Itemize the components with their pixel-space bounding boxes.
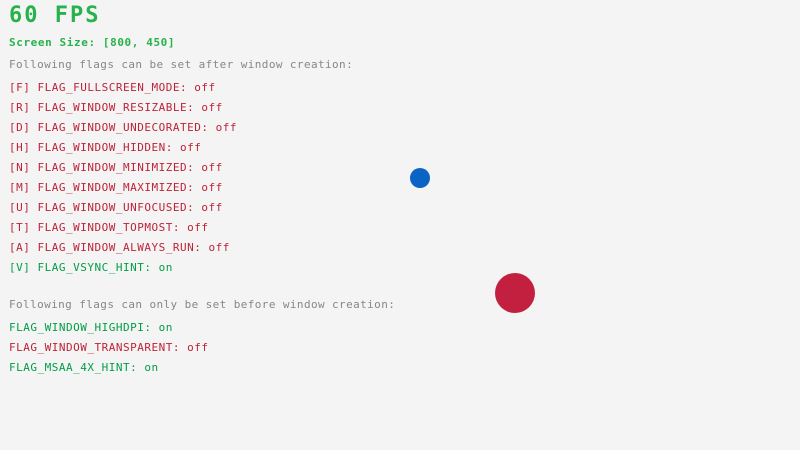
flag-state-value: off [180,141,201,154]
flag-shortcut-key: [D] [9,121,38,134]
flag-name: FLAG_WINDOW_MAXIMIZED [38,181,188,194]
flag-row-flag_window_always_run[interactable]: [A] FLAG_WINDOW_ALWAYS_RUN: off [9,238,237,258]
flag-state-value: on [159,321,173,334]
flag-row-flag_window_minimized[interactable]: [N] FLAG_WINDOW_MINIMIZED: off [9,158,237,178]
flag-shortcut-key: [H] [9,141,38,154]
section-heading-after-creation: Following flags can be set after window … [9,58,353,72]
section-heading-before-creation: Following flags can only be set before w… [9,298,395,312]
flag-shortcut-key: [N] [9,161,38,174]
flag-separator: : [166,141,180,154]
flag-row-flag_window_resizable[interactable]: [R] FLAG_WINDOW_RESIZABLE: off [9,98,237,118]
flag-row-flag_window_maximized[interactable]: [M] FLAG_WINDOW_MAXIMIZED: off [9,178,237,198]
flag-separator: : [194,241,208,254]
flag-name: FLAG_FULLSCREEN_MODE [38,81,180,94]
flag-separator: : [187,161,201,174]
flag-name: FLAG_WINDOW_HIGHDPI [9,321,144,334]
flag-name: FLAG_VSYNC_HINT [38,261,145,274]
flag-state-value: on [159,261,173,274]
flag-state-value: off [187,341,208,354]
flag-name: FLAG_WINDOW_RESIZABLE [38,101,188,114]
flag-state-value: off [187,221,208,234]
flag-name: FLAG_WINDOW_MINIMIZED [38,161,188,174]
flag-name: FLAG_MSAA_4X_HINT [9,361,130,374]
flag-state-value: off [201,101,222,114]
flag-shortcut-key: [U] [9,201,38,214]
flag-separator: : [144,321,158,334]
flag-row-flag_window_hidden[interactable]: [H] FLAG_WINDOW_HIDDEN: off [9,138,237,158]
screen-size-label: Screen Size: [800, 450] [9,36,175,50]
flag-list-before-creation: FLAG_WINDOW_HIGHDPI: onFLAG_WINDOW_TRANS… [9,318,208,378]
flag-shortcut-key: [M] [9,181,38,194]
flag-separator: : [201,121,215,134]
flag-separator: : [187,181,201,194]
flag-state-value: off [194,81,215,94]
flag-separator: : [173,221,187,234]
flag-state-value: off [201,161,222,174]
flag-separator: : [187,201,201,214]
red-ball [495,273,535,313]
flag-row-flag_window_transparent[interactable]: FLAG_WINDOW_TRANSPARENT: off [9,338,208,358]
flag-state-value: off [201,181,222,194]
flag-row-flag_window_topmost[interactable]: [T] FLAG_WINDOW_TOPMOST: off [9,218,237,238]
flag-state-value: off [201,201,222,214]
flag-separator: : [187,101,201,114]
flag-state-value: on [144,361,158,374]
flag-row-flag_window_highdpi[interactable]: FLAG_WINDOW_HIGHDPI: on [9,318,208,338]
flag-row-flag_window_unfocused[interactable]: [U] FLAG_WINDOW_UNFOCUSED: off [9,198,237,218]
flag-row-flag_window_undecorated[interactable]: [D] FLAG_WINDOW_UNDECORATED: off [9,118,237,138]
flag-list-after-creation: [F] FLAG_FULLSCREEN_MODE: off[R] FLAG_WI… [9,78,237,278]
flag-name: FLAG_WINDOW_HIDDEN [38,141,166,154]
flag-row-flag_msaa_4x_hint[interactable]: FLAG_MSAA_4X_HINT: on [9,358,208,378]
flag-shortcut-key: [A] [9,241,38,254]
flag-name: FLAG_WINDOW_ALWAYS_RUN [38,241,195,254]
flag-name: FLAG_WINDOW_TOPMOST [38,221,173,234]
flag-shortcut-key: [V] [9,261,38,274]
flag-shortcut-key: [T] [9,221,38,234]
flag-name: FLAG_WINDOW_UNDECORATED [38,121,202,134]
flag-name: FLAG_WINDOW_TRANSPARENT [9,341,173,354]
flag-name: FLAG_WINDOW_UNFOCUSED [38,201,188,214]
flag-separator: : [130,361,144,374]
flag-separator: : [180,81,194,94]
flag-state-value: off [216,121,237,134]
flag-state-value: off [208,241,229,254]
raylib-window-canvas: 60 FPS Screen Size: [800, 450] Following… [0,0,800,450]
flag-separator: : [144,261,158,274]
flag-row-flag_vsync_hint[interactable]: [V] FLAG_VSYNC_HINT: on [9,258,237,278]
flag-shortcut-key: [F] [9,81,38,94]
blue-ball [410,168,430,188]
fps-counter: 60 FPS [9,3,100,29]
flag-row-flag_fullscreen_mode[interactable]: [F] FLAG_FULLSCREEN_MODE: off [9,78,237,98]
flag-separator: : [173,341,187,354]
flag-shortcut-key: [R] [9,101,38,114]
